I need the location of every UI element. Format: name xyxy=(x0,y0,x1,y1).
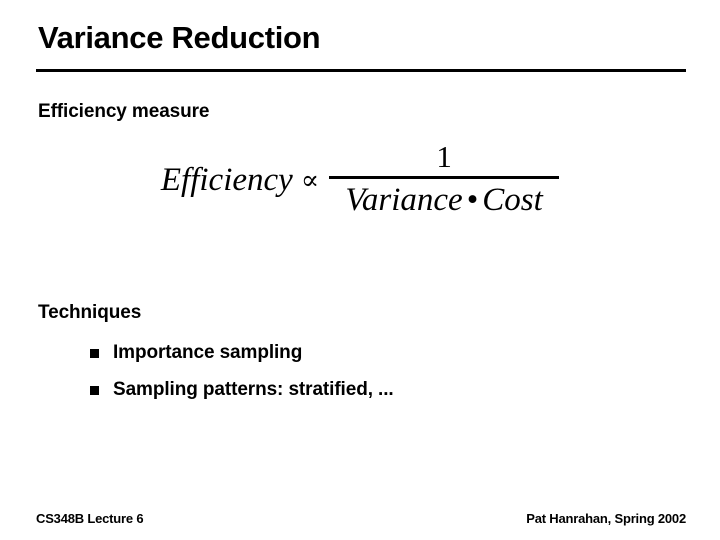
footer-course-label: CS348B Lecture 6 xyxy=(36,511,143,526)
multiplication-dot-icon: • xyxy=(463,182,483,218)
square-bullet-icon xyxy=(90,349,99,358)
equation-lhs: Efficiency xyxy=(161,162,299,198)
denominator-term-variance: Variance xyxy=(345,182,462,218)
page-title: Variance Reduction xyxy=(38,20,320,56)
proportional-to-icon: ∝ xyxy=(299,162,329,198)
efficiency-equation: Efficiency ∝ 1 Variance•Cost xyxy=(0,140,720,219)
fraction-denominator: Variance•Cost xyxy=(345,179,542,219)
list-item-label: Sampling patterns: stratified, ... xyxy=(113,379,394,400)
denominator-term-cost: Cost xyxy=(482,182,543,218)
list-item-label: Importance sampling xyxy=(113,342,302,363)
title-divider xyxy=(36,69,686,72)
footer-author-label: Pat Hanrahan, Spring 2002 xyxy=(526,511,686,526)
equation-row: Efficiency ∝ 1 Variance•Cost xyxy=(161,140,559,219)
list-item: Sampling patterns: stratified, ... xyxy=(0,377,720,414)
techniques-list: Importance sampling Sampling patterns: s… xyxy=(0,340,720,414)
list-item: Importance sampling xyxy=(0,340,720,377)
equation-fraction: 1 Variance•Cost xyxy=(329,140,559,219)
section-heading-efficiency: Efficiency measure xyxy=(38,100,209,124)
slide-footer: CS348B Lecture 6 Pat Hanrahan, Spring 20… xyxy=(36,511,686,526)
slide-canvas: Variance Reduction Efficiency measure Ef… xyxy=(0,0,720,540)
square-bullet-icon xyxy=(90,386,99,395)
section-heading-techniques: Techniques xyxy=(38,301,141,325)
fraction-numerator: 1 xyxy=(436,140,452,176)
